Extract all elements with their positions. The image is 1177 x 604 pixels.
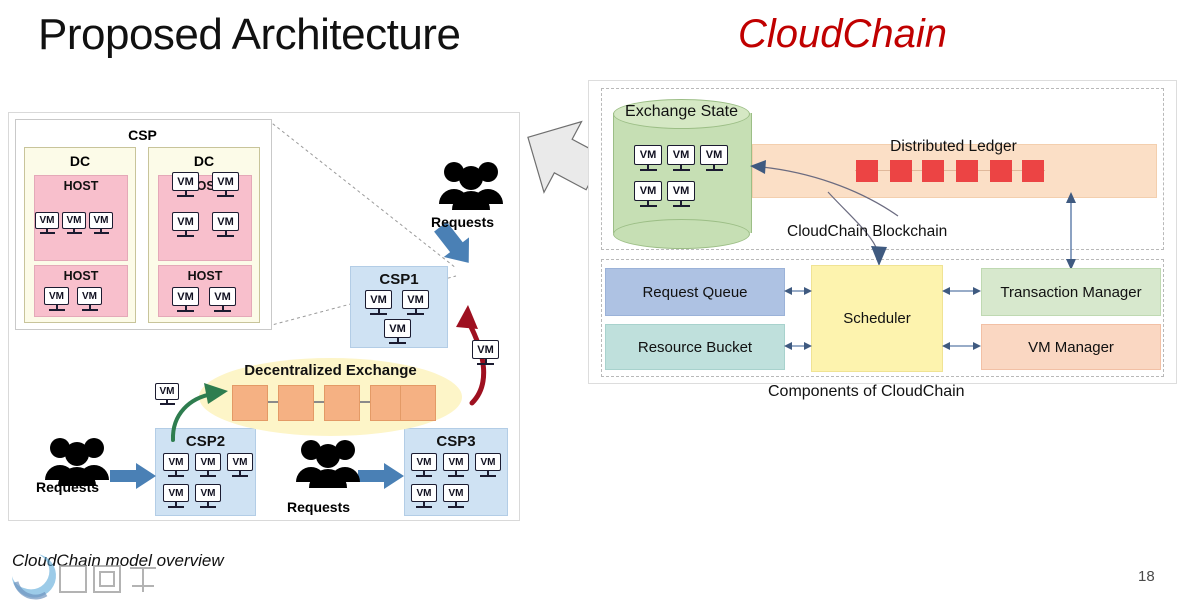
- vm-icon: VM: [667, 181, 695, 207]
- vm-icon: VM: [195, 484, 221, 508]
- exchange-state-label: Exchange State: [613, 103, 750, 121]
- vm-icon: VM: [443, 484, 469, 508]
- vm-icon: VM: [77, 287, 102, 311]
- bucket-scheduler-arrow: [784, 339, 812, 353]
- vm-icon-label: VM: [163, 453, 189, 471]
- people-icon: [293, 434, 363, 490]
- requests-arrow-csp3: [358, 462, 406, 492]
- vm-icon-label: VM: [44, 287, 69, 305]
- scheduler-label: Scheduler: [843, 310, 911, 327]
- vm-icon: VM: [365, 290, 392, 315]
- vm-icon: VM: [443, 453, 469, 477]
- vm-icon: VM: [634, 181, 662, 207]
- requests-label-csp2: Requests: [36, 479, 99, 495]
- vm-icon-label: VM: [172, 287, 199, 306]
- ledger-block: [1022, 160, 1044, 182]
- dc-label: DC: [149, 153, 259, 169]
- host-label: HOST: [35, 269, 127, 283]
- host-label: HOST: [159, 269, 251, 283]
- vm-manager-label: VM Manager: [1028, 339, 1114, 356]
- vm-icon-label: VM: [172, 172, 199, 191]
- exchange-state-cylinder: [613, 99, 750, 247]
- queue-scheduler-arrow: [784, 284, 812, 298]
- vm-icon: VM: [89, 212, 113, 234]
- vm-icon: VM: [163, 484, 189, 508]
- ledger-block: [990, 160, 1012, 182]
- vm-icon-label: VM: [195, 453, 221, 471]
- requests-arrow-top: [430, 222, 490, 278]
- vm-icon: VM: [62, 212, 86, 234]
- vm-icon-label: VM: [384, 319, 411, 338]
- host-label: HOST: [35, 179, 127, 193]
- vm-icon-label: VM: [475, 453, 501, 471]
- vm-icon-label: VM: [700, 145, 728, 165]
- vm-icon-label: VM: [667, 145, 695, 165]
- components-caption: Components of CloudChain: [768, 383, 965, 401]
- vm-icon: VM: [402, 290, 429, 315]
- request-queue-box[interactable]: Request Queue: [605, 268, 785, 316]
- vm-icon-label: VM: [227, 453, 253, 471]
- distributed-ledger-label: Distributed Ledger: [752, 138, 1155, 156]
- exchange-block: [324, 385, 360, 421]
- vm-icon-label: VM: [402, 290, 429, 309]
- vm-icon-label: VM: [212, 212, 239, 231]
- transaction-manager-box[interactable]: Transaction Manager: [981, 268, 1161, 316]
- exchange-block: [278, 385, 314, 421]
- scheduler-tm-arrow: [942, 284, 981, 298]
- ledger-block: [956, 160, 978, 182]
- vm-icon: VM: [667, 145, 695, 171]
- vm-icon: VM: [209, 287, 236, 312]
- watermark-logo: [2, 546, 182, 604]
- scheduler-vmm-arrow: [942, 339, 981, 353]
- vm-icon: VM: [44, 287, 69, 311]
- people-icon: [436, 156, 506, 212]
- page-title-right: CloudChain: [738, 12, 947, 57]
- vm-icon-label: VM: [634, 145, 662, 165]
- vm-icon-label: VM: [172, 212, 199, 231]
- vm-icon-label: VM: [89, 212, 113, 229]
- vm-icon: VM: [155, 383, 179, 405]
- vm-icon: VM: [172, 212, 199, 237]
- dc-box-2: DC HOST HOST: [148, 147, 260, 323]
- vm-icon-label: VM: [365, 290, 392, 309]
- vm-icon: VM: [411, 453, 437, 477]
- vm-icon: VM: [472, 340, 499, 365]
- vm-icon: VM: [227, 453, 253, 477]
- vm-icon-label: VM: [411, 484, 437, 502]
- vm-icon-label: VM: [195, 484, 221, 502]
- csp-label: CSP: [15, 127, 270, 143]
- vm-icon: VM: [212, 172, 239, 197]
- transaction-manager-label: Transaction Manager: [1000, 284, 1141, 301]
- cloudchain-blockchain-label: CloudChain Blockchain: [787, 223, 947, 241]
- resource-bucket-label: Resource Bucket: [638, 339, 752, 356]
- vm-icon-label: VM: [411, 453, 437, 471]
- vm-icon-label: VM: [634, 181, 662, 201]
- vm-icon-label: VM: [62, 212, 86, 229]
- vm-icon-label: VM: [443, 484, 469, 502]
- vm-manager-box[interactable]: VM Manager: [981, 324, 1161, 370]
- resource-bucket-box[interactable]: Resource Bucket: [605, 324, 785, 370]
- vm-icon: VM: [172, 287, 199, 312]
- page-title-left: Proposed Architecture: [38, 10, 460, 60]
- vm-icon-label: VM: [77, 287, 102, 305]
- scheduler-box[interactable]: Scheduler: [811, 265, 943, 372]
- requests-arrow-csp2: [110, 462, 158, 492]
- csp3-label: CSP3: [405, 433, 507, 450]
- vm-icon: VM: [172, 172, 199, 197]
- vm-icon: VM: [475, 453, 501, 477]
- vm-icon-label: VM: [155, 383, 179, 400]
- vm-icon: VM: [384, 319, 411, 344]
- vm-icon-label: VM: [443, 453, 469, 471]
- vm-icon: VM: [163, 453, 189, 477]
- vm-icon: VM: [634, 145, 662, 171]
- request-queue-label: Request Queue: [642, 284, 747, 301]
- vm-icon-label: VM: [212, 172, 239, 191]
- vm-icon-label: VM: [35, 212, 59, 229]
- vm-icon-label: VM: [163, 484, 189, 502]
- vm-icon: VM: [212, 212, 239, 237]
- page-number: 18: [1138, 568, 1155, 585]
- dc-label: DC: [25, 153, 135, 169]
- ledger-tm-arrow: [1063, 192, 1079, 272]
- vm-icon-label: VM: [667, 181, 695, 201]
- vm-icon: VM: [700, 145, 728, 171]
- vm-icon-label: VM: [209, 287, 236, 306]
- requests-label-top: Requests: [431, 214, 494, 230]
- requests-label-csp3: Requests: [287, 499, 350, 515]
- vm-icon: VM: [35, 212, 59, 234]
- vm-icon: VM: [195, 453, 221, 477]
- vm-icon-label: VM: [472, 340, 499, 359]
- vm-icon: VM: [411, 484, 437, 508]
